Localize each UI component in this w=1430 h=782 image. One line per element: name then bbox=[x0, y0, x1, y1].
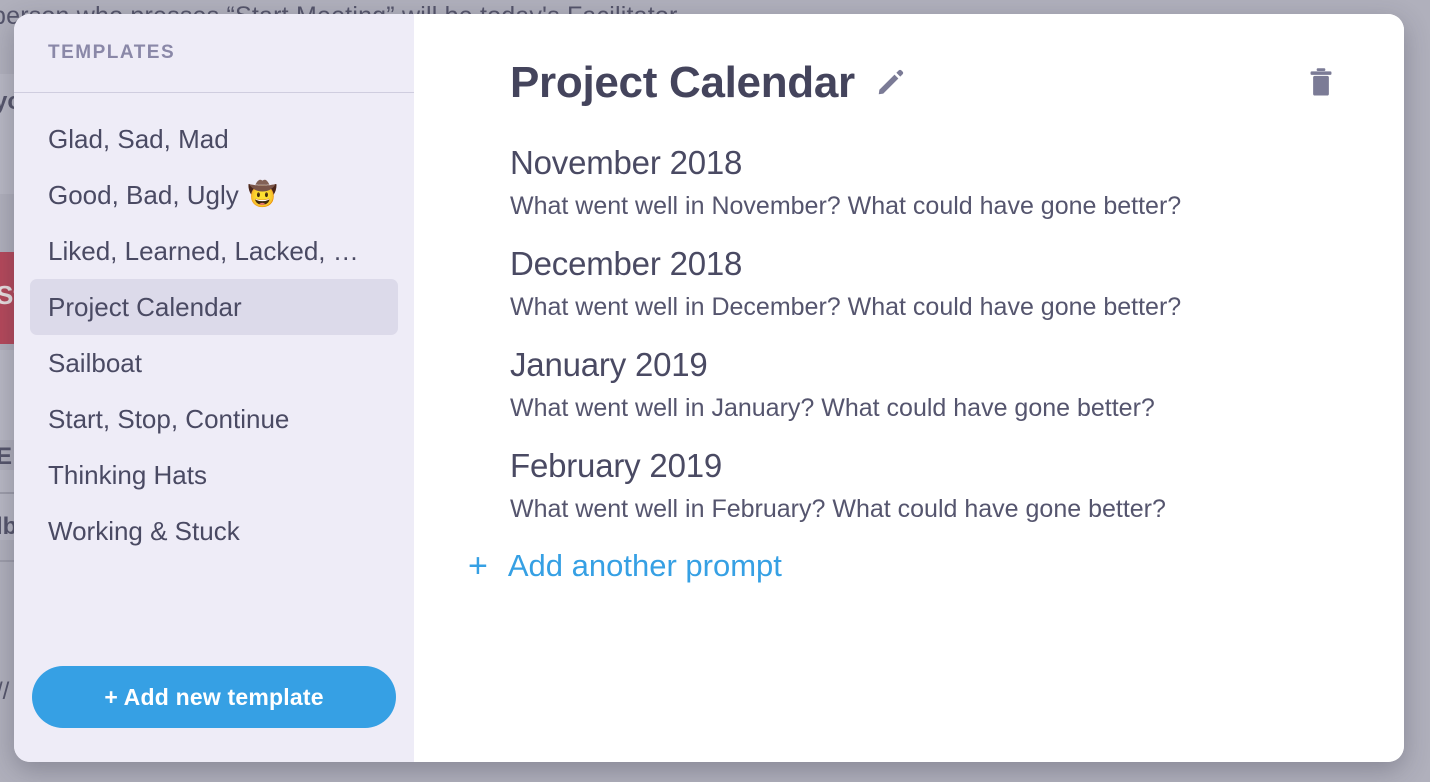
sidebar-item-working-and-stuck[interactable]: Working & Stuck bbox=[30, 503, 398, 559]
template-detail-panel: Project Calendar November 2018 What went… bbox=[414, 14, 1404, 762]
sidebar-header-label: TEMPLATES bbox=[14, 14, 414, 92]
prompt-block: January 2019 What went well in January? … bbox=[510, 346, 1364, 423]
sidebar-item-glad-sad-mad[interactable]: Glad, Sad, Mad bbox=[30, 111, 398, 167]
sidebar-footer: + Add new template bbox=[14, 666, 414, 762]
prompt-month-heading[interactable]: February 2019 bbox=[510, 447, 1364, 485]
cowboy-hat-face-icon: 🤠 bbox=[248, 183, 278, 207]
sidebar-item-good-bad-ugly[interactable]: Good, Bad, Ugly 🤠 bbox=[30, 167, 398, 223]
pencil-icon[interactable] bbox=[875, 68, 905, 98]
trash-icon[interactable] bbox=[1306, 67, 1336, 99]
prompt-block: February 2019 What went well in February… bbox=[510, 447, 1364, 524]
templates-sidebar: TEMPLATES Glad, Sad, Mad Good, Bad, Ugly… bbox=[14, 14, 414, 762]
background-fragment-3: // bbox=[0, 678, 9, 706]
prompt-question-text[interactable]: What went well in December? What could h… bbox=[510, 293, 1364, 322]
prompt-question-text[interactable]: What went well in January? What could ha… bbox=[510, 394, 1364, 423]
add-new-template-button[interactable]: + Add new template bbox=[32, 666, 396, 728]
template-detail-header: Project Calendar bbox=[510, 58, 1364, 108]
page-title: Project Calendar bbox=[510, 58, 855, 108]
template-item-label: Liked, Learned, Lacked, … bbox=[48, 236, 359, 267]
prompt-block: December 2018 What went well in December… bbox=[510, 245, 1364, 322]
prompt-question-text[interactable]: What went well in November? What could h… bbox=[510, 192, 1364, 221]
template-item-label: Good, Bad, Ugly bbox=[48, 180, 239, 211]
prompt-question-text[interactable]: What went well in February? What could h… bbox=[510, 495, 1364, 524]
template-item-label: Working & Stuck bbox=[48, 516, 240, 547]
add-another-prompt-button[interactable]: + Add another prompt bbox=[468, 548, 782, 584]
sidebar-item-sailboat[interactable]: Sailboat bbox=[30, 335, 398, 391]
sidebar-item-liked-learned-lacked[interactable]: Liked, Learned, Lacked, … bbox=[30, 223, 398, 279]
prompt-block: November 2018 What went well in November… bbox=[510, 144, 1364, 221]
background-fragment-1: E bbox=[0, 443, 12, 471]
sidebar-item-thinking-hats[interactable]: Thinking Hats bbox=[30, 447, 398, 503]
sidebar-item-project-calendar[interactable]: Project Calendar bbox=[30, 279, 398, 335]
plus-icon: + bbox=[468, 549, 488, 583]
templates-modal: TEMPLATES Glad, Sad, Mad Good, Bad, Ugly… bbox=[14, 14, 1404, 762]
sidebar-item-start-stop-continue[interactable]: Start, Stop, Continue bbox=[30, 391, 398, 447]
template-item-label: Start, Stop, Continue bbox=[48, 404, 289, 435]
template-item-label: Glad, Sad, Mad bbox=[48, 124, 229, 155]
prompt-month-heading[interactable]: November 2018 bbox=[510, 144, 1364, 182]
prompt-month-heading[interactable]: December 2018 bbox=[510, 245, 1364, 283]
template-item-label: Sailboat bbox=[48, 348, 142, 379]
template-list: Glad, Sad, Mad Good, Bad, Ugly 🤠 Liked, … bbox=[14, 93, 414, 666]
prompt-month-heading[interactable]: January 2019 bbox=[510, 346, 1364, 384]
template-item-label: Thinking Hats bbox=[48, 460, 207, 491]
template-item-label: Project Calendar bbox=[48, 292, 242, 323]
add-another-prompt-label: Add another prompt bbox=[508, 548, 782, 584]
